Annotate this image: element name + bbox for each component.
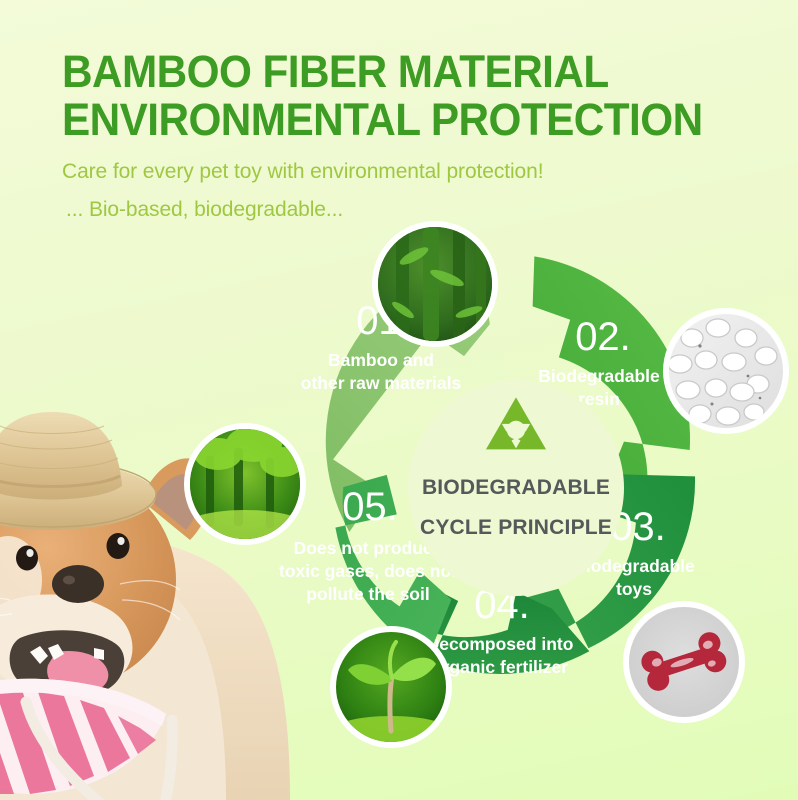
center-title-line2: CYCLE PRINCIPLE (420, 516, 612, 539)
center-title-line1: BIODEGRADABLE (422, 476, 610, 499)
poster-root: BAMBOO FIBER MATERIAL ENVIRONMENTAL PROT… (0, 0, 798, 800)
segment-05-number: 05. (342, 485, 398, 529)
segment-04-label-line1: Decomposed into (427, 634, 574, 654)
page-title: BAMBOO FIBER MATERIAL ENVIRONMENTAL PROT… (62, 48, 720, 144)
forest-trees-photo (184, 423, 306, 545)
biodegradable-cycle-diagram: 01. Bamboo and other raw materials 02. B… (248, 226, 788, 766)
subtitle-secondary: ... Bio-based, biodegradable... (66, 198, 343, 222)
bamboo-stalks-photo (372, 221, 498, 347)
segment-01-label-line2: other raw materials (301, 373, 462, 393)
segment-03-label-line2: toys (616, 579, 652, 599)
segment-02-label-line1: Biodegradable (538, 366, 660, 386)
cycle-center: BIODEGRADABLE CYCLE PRINCIPLE (408, 380, 624, 596)
segment-01-label-line1: Bamboo and (328, 350, 434, 370)
segment-04-label-line2: organic fertilizer (432, 657, 568, 677)
resin-pellets-photo (663, 308, 789, 434)
segment-02-number: 02. (575, 315, 631, 359)
segment-05-label-line3: pollute the soil (306, 584, 429, 604)
segment-05-label-line2: toxic gases, does not (279, 561, 457, 581)
bone-chew-toy-photo (623, 601, 745, 723)
segment-05-label-line1: Does not produce (294, 538, 443, 558)
subtitle-primary: Care for every pet toy with environmenta… (62, 160, 543, 184)
